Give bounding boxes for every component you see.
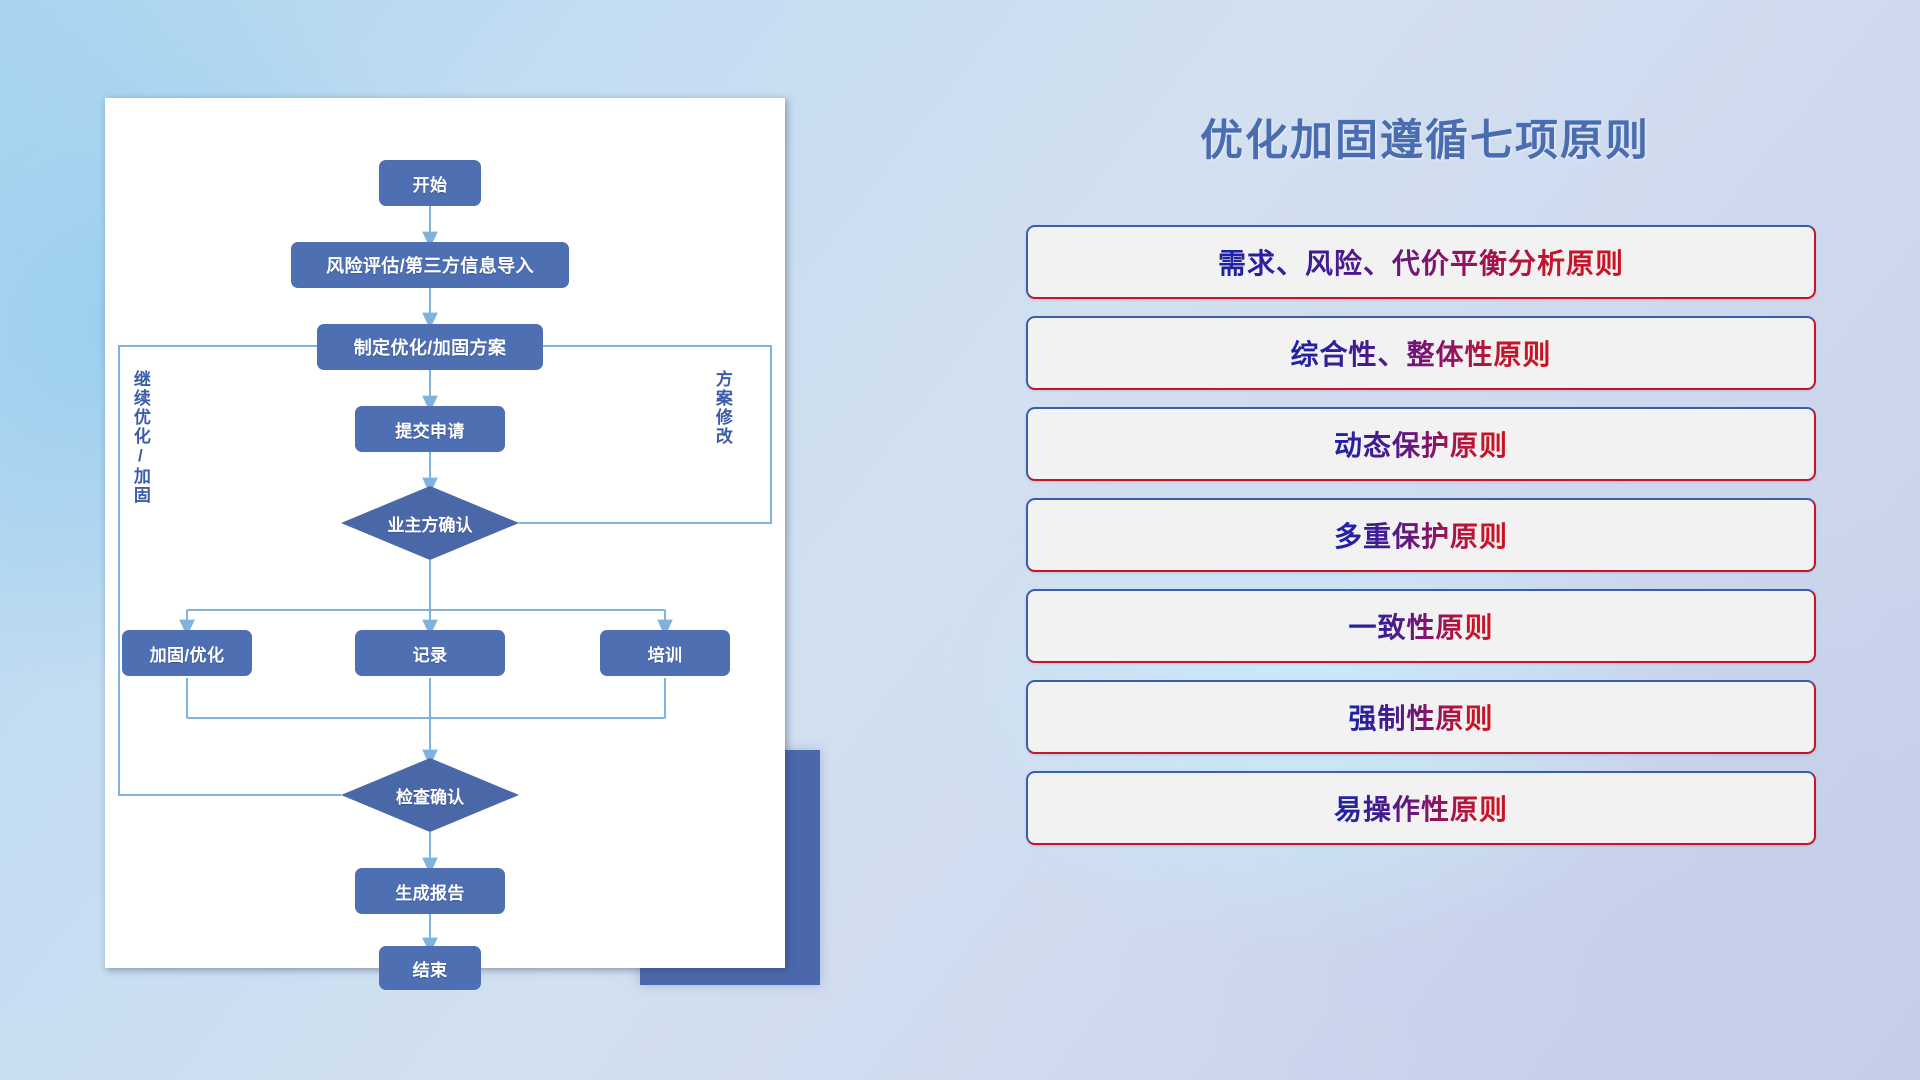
- principle-item[interactable]: 需求、风险、代价平衡分析原则: [1026, 225, 1816, 299]
- flow-node-risk-assessment[interactable]: 风险评估/第三方信息导入: [291, 242, 569, 288]
- principle-item[interactable]: 多重保护原则: [1026, 498, 1816, 572]
- principle-item[interactable]: 强制性原则: [1026, 680, 1816, 754]
- flow-node-label: 加固/优化: [150, 641, 225, 666]
- flow-node-label: 记录: [413, 641, 448, 666]
- flow-node-make-plan[interactable]: 制定优化/加固方案: [317, 324, 543, 370]
- principle-label: 多重保护原则: [1334, 515, 1508, 555]
- flow-node-generate-report[interactable]: 生成报告: [355, 868, 505, 914]
- flow-edge-label-right: 方案修改: [713, 370, 731, 446]
- flow-edge-label-left: 继续优化/加固: [131, 370, 149, 505]
- principle-item[interactable]: 易操作性原则: [1026, 771, 1816, 845]
- flow-node-label: 结束: [413, 956, 448, 981]
- principle-label: 动态保护原则: [1334, 424, 1508, 464]
- principle-item[interactable]: 一致性原则: [1026, 589, 1816, 663]
- flow-node-label: 检查确认: [396, 783, 464, 808]
- flowchart-card: 开始 风险评估/第三方信息导入 制定优化/加固方案 提交申请 业主方确认 加固/…: [105, 98, 785, 968]
- principles-panel: 优化加固遵循七项原则 需求、风险、代价平衡分析原则 综合性、整体性原则 动态保护…: [1020, 100, 1830, 1010]
- flow-node-label: 提交申请: [395, 417, 465, 442]
- principle-label: 需求、风险、代价平衡分析原则: [1218, 242, 1624, 282]
- panel-title: 优化加固遵循七项原则: [1020, 106, 1830, 168]
- principle-item[interactable]: 动态保护原则: [1026, 407, 1816, 481]
- flow-node-label: 业主方确认: [388, 511, 473, 536]
- flow-node-start[interactable]: 开始: [379, 160, 481, 206]
- flow-node-label: 生成报告: [395, 879, 465, 904]
- principle-item[interactable]: 综合性、整体性原则: [1026, 316, 1816, 390]
- principle-label: 综合性、整体性原则: [1290, 333, 1551, 373]
- flow-node-reinforce-optimize[interactable]: 加固/优化: [122, 630, 252, 676]
- flow-node-label: 风险评估/第三方信息导入: [326, 252, 534, 278]
- flow-node-end[interactable]: 结束: [379, 946, 481, 990]
- flow-node-submit-application[interactable]: 提交申请: [355, 406, 505, 452]
- principle-label: 易操作性原则: [1334, 788, 1508, 828]
- flow-node-label: 制定优化/加固方案: [354, 334, 507, 360]
- slide-canvas: 开始 风险评估/第三方信息导入 制定优化/加固方案 提交申请 业主方确认 加固/…: [0, 0, 1920, 1080]
- principles-list: 需求、风险、代价平衡分析原则 综合性、整体性原则 动态保护原则 多重保护原则 一…: [1026, 225, 1816, 862]
- flow-node-label: 开始: [413, 171, 448, 196]
- principle-label: 强制性原则: [1348, 697, 1493, 737]
- flow-node-training[interactable]: 培训: [600, 630, 730, 676]
- flow-node-record[interactable]: 记录: [355, 630, 505, 676]
- principle-label: 一致性原则: [1348, 606, 1493, 646]
- flow-node-label: 培训: [648, 641, 683, 666]
